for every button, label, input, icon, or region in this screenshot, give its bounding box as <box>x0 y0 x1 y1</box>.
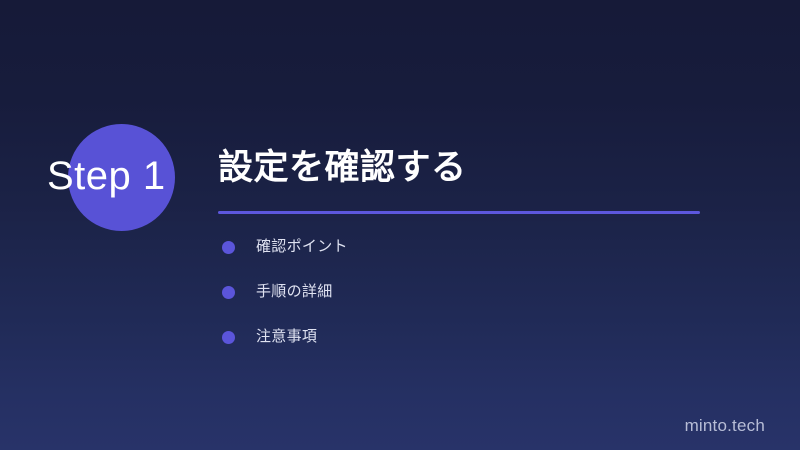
list-item-label: 確認ポイント <box>256 237 348 257</box>
list-item-label: 手順の詳細 <box>256 282 333 302</box>
step-badge-label: Step 1 <box>47 152 217 200</box>
footer-brand: minto.tech <box>685 416 765 436</box>
bullet-list: 確認ポイント 手順の詳細 注意事項 <box>218 236 718 348</box>
slide-content: 設定を確認する 確認ポイント 手順の詳細 注意事項 <box>218 146 718 371</box>
list-item: 注意事項 <box>218 326 718 348</box>
presentation-slide: Step 1 設定を確認する 確認ポイント 手順の詳細 注意事項 minto.t… <box>0 0 800 450</box>
title-divider <box>218 211 700 214</box>
bullet-dot-icon <box>222 241 235 254</box>
list-item-label: 注意事項 <box>256 327 317 347</box>
slide-title: 設定を確認する <box>218 146 718 190</box>
list-item: 確認ポイント <box>218 236 718 258</box>
bullet-dot-icon <box>222 331 235 344</box>
bullet-dot-icon <box>222 286 235 299</box>
list-item: 手順の詳細 <box>218 281 718 303</box>
